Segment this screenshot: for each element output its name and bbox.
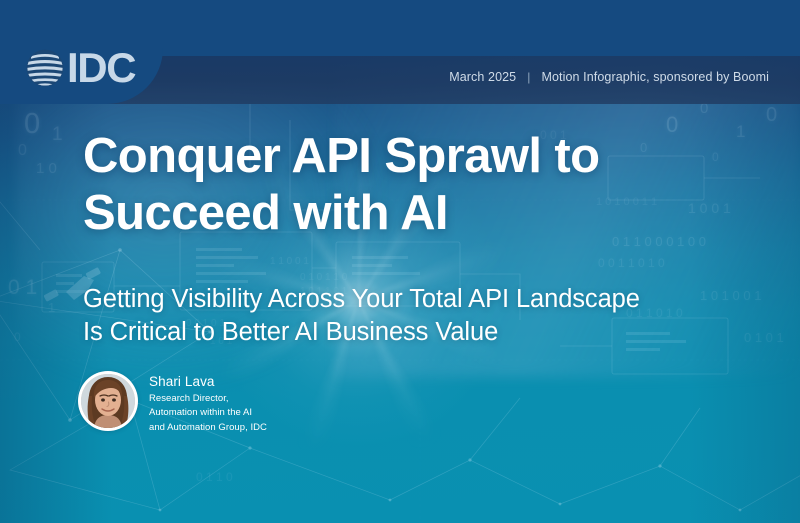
page-subtitle: Getting Visibility Across Your Total API… xyxy=(83,283,763,349)
sponsor-label: Motion Infographic, sponsored by Boomi xyxy=(541,70,769,84)
author-role: Research Director, Automation within the… xyxy=(149,392,267,435)
author-role-line-1: Research Director, xyxy=(149,392,267,406)
idc-logo-wordmark: IDC xyxy=(67,47,135,89)
idc-logo[interactable]: IDC xyxy=(26,47,135,89)
header-meta: March 2025 | Motion Infographic, sponsor… xyxy=(449,70,769,84)
author-role-line-3: and Automation Group, IDC xyxy=(149,421,267,435)
page-subtitle-line-1: Getting Visibility Across Your Total API… xyxy=(83,283,763,316)
publication-date: March 2025 xyxy=(449,70,516,84)
infographic-cover: 0101 00 1100 1 1 00010001 0 0 10 1 1 0 0… xyxy=(0,0,800,523)
avatar-image xyxy=(81,374,135,428)
page-title-line-1: Conquer API Sprawl to xyxy=(83,128,743,185)
idc-globe-icon xyxy=(26,49,64,87)
meta-separator: | xyxy=(527,70,530,84)
page-subtitle-line-2: Is Critical to Better AI Business Value xyxy=(83,316,763,349)
author-name: Shari Lava xyxy=(149,374,267,391)
avatar xyxy=(78,371,138,431)
author-portrait-illustration xyxy=(81,374,135,428)
page-title-line-2: Succeed with AI xyxy=(83,185,743,242)
author-block: Shari Lava Research Director, Automation… xyxy=(78,371,267,435)
author-text: Shari Lava Research Director, Automation… xyxy=(149,371,267,435)
page-title: Conquer API Sprawl to Succeed with AI xyxy=(83,128,743,242)
author-role-line-2: Automation within the AI xyxy=(149,406,267,420)
